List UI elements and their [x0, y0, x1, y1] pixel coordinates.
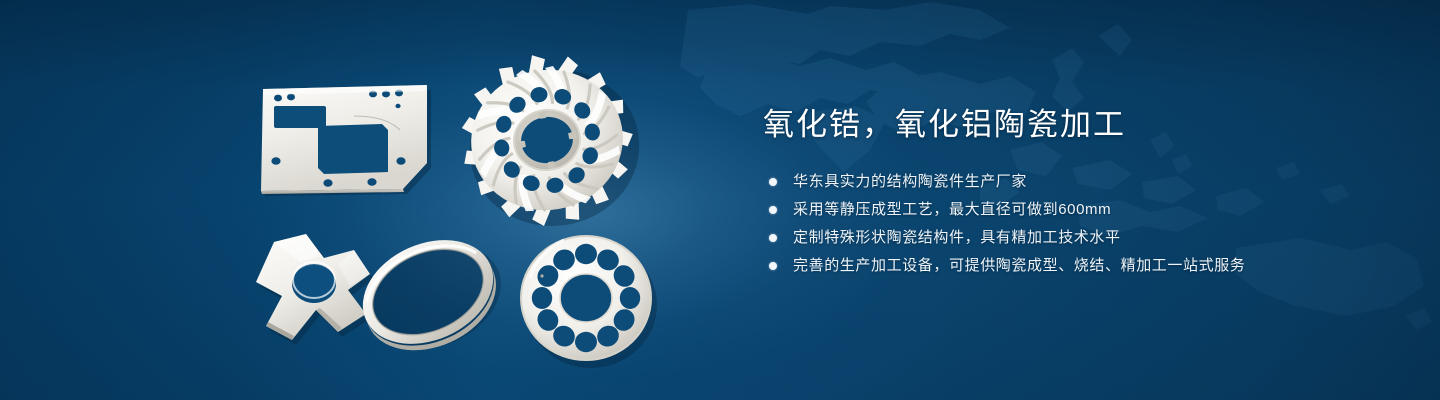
- banner-feature-list: 华东具实力的结构陶瓷件生产厂家 采用等静压成型工艺，最大直径可做到600mm 定…: [769, 171, 1323, 277]
- product-photo-collage: [0, 0, 760, 400]
- list-item-label: 华东具实力的结构陶瓷件生产厂家: [793, 173, 1027, 190]
- bullet-dot-icon: [769, 178, 777, 186]
- list-item: 定制特殊形状陶瓷结构件，具有精加工技术水平: [769, 227, 1323, 249]
- banner-headline: 氧化锆，氧化铝陶瓷加工: [763, 108, 1323, 143]
- banner-copy: 氧化锆，氧化铝陶瓷加工 华东具实力的结构陶瓷件生产厂家 采用等静压成型工艺，最大…: [763, 108, 1323, 283]
- list-item: 华东具实力的结构陶瓷件生产厂家: [769, 171, 1323, 193]
- list-item-label: 完善的生产加工设备，可提供陶瓷成型、烧结、精加工一站式服务: [793, 257, 1245, 274]
- list-item: 完善的生产加工设备，可提供陶瓷成型、烧结、精加工一站式服务: [769, 255, 1323, 277]
- bullet-dot-icon: [769, 234, 777, 242]
- list-item-label: 采用等静压成型工艺，最大直径可做到600mm: [793, 201, 1111, 218]
- list-item-label: 定制特殊形状陶瓷结构件，具有精加工技术水平: [793, 229, 1121, 246]
- bullet-dot-icon: [769, 262, 777, 270]
- ceramic-ring: [348, 230, 508, 358]
- ceramic-impeller: [452, 52, 642, 232]
- list-item: 采用等静压成型工艺，最大直径可做到600mm: [769, 199, 1323, 221]
- ceramic-plate: [258, 82, 430, 194]
- bullet-dot-icon: [769, 206, 777, 214]
- ceramic-perforated-disc: [512, 228, 660, 370]
- hero-banner: 氧化锆，氧化铝陶瓷加工 华东具实力的结构陶瓷件生产厂家 采用等静压成型工艺，最大…: [0, 0, 1440, 400]
